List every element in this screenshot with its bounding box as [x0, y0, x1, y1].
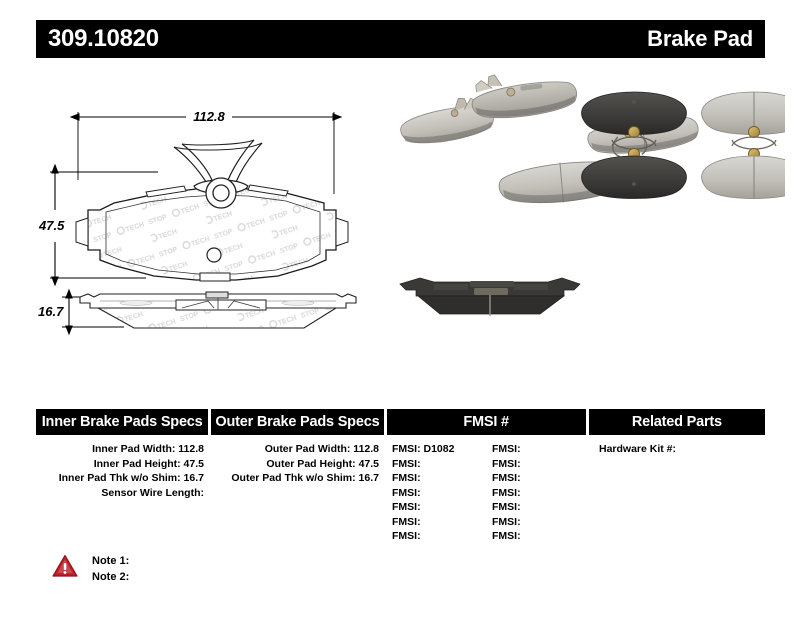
part-number: 309.10820: [48, 27, 159, 51]
spec-row: Outer Pad Height: 47.5: [211, 457, 383, 472]
related-parts-column: Hardware Kit #:: [589, 442, 765, 544]
note-line-1: Note 1:: [92, 553, 129, 569]
spec-row: Outer Pad Thk w/o Shim: 16.7: [211, 471, 383, 486]
fmsi-column: FMSI: D1082 FMSI: FMSI: FMSI: FMSI: FMSI…: [386, 442, 586, 544]
pads-grid-photo: [582, 92, 785, 199]
table-header-outer-specs: Outer Brake Pads Specs: [211, 409, 383, 435]
specifications-table: Inner Brake Pads Specs Outer Brake Pads …: [36, 409, 765, 544]
note-line-2: Note 2:: [92, 569, 129, 585]
notes-section: Note 1: Note 2:: [52, 553, 129, 585]
height-dimension-label: 47.5: [38, 218, 65, 233]
fmsi-row: FMSI:: [386, 471, 486, 486]
table-header-fmsi: FMSI #: [387, 409, 586, 435]
fmsi-row: FMSI:: [486, 471, 586, 486]
fmsi-row: FMSI:: [386, 486, 486, 501]
fmsi-subcolumn-right: FMSI: FMSI: FMSI: FMSI: FMSI: FMSI: FMSI…: [486, 442, 586, 544]
fmsi-row: FMSI:: [486, 442, 586, 457]
fmsi-row: FMSI: D1082: [386, 442, 486, 457]
pad-edge-photo: [400, 278, 580, 316]
fmsi-row: FMSI:: [486, 486, 586, 501]
spec-row: Outer Pad Width: 112.8: [211, 442, 383, 457]
fmsi-subcolumn-left: FMSI: D1082 FMSI: FMSI: FMSI: FMSI: FMSI…: [386, 442, 486, 544]
fmsi-row: FMSI:: [386, 529, 486, 544]
spec-row: Sensor Wire Length:: [36, 486, 208, 501]
note-lines: Note 1: Note 2:: [92, 553, 129, 585]
product-photo-panel: [390, 70, 785, 370]
table-header-related-parts: Related Parts: [589, 409, 765, 435]
outer-specs-column: Outer Pad Width: 112.8 Outer Pad Height:…: [211, 442, 383, 544]
cad-drawing-svg: STOP TECH STOP TECH: [36, 70, 396, 370]
fmsi-row: FMSI:: [486, 515, 586, 530]
spec-row: Inner Pad Thk w/o Shim: 16.7: [36, 471, 208, 486]
fmsi-row: FMSI:: [386, 457, 486, 472]
inner-specs-column: Inner Pad Width: 112.8 Inner Pad Height:…: [36, 442, 208, 544]
brake-pad-side-view: [80, 292, 356, 328]
width-dimension-label: 112.8: [193, 109, 225, 124]
fmsi-row: FMSI:: [386, 515, 486, 530]
table-header-row: Inner Brake Pads Specs Outer Brake Pads …: [36, 409, 765, 435]
fmsi-row: FMSI:: [386, 500, 486, 515]
table-header-inner-specs: Inner Brake Pads Specs: [36, 409, 208, 435]
product-illustration-area: STOP TECH STOP TECH: [0, 62, 800, 392]
warning-triangle-icon: [52, 554, 78, 578]
fmsi-row: FMSI:: [486, 529, 586, 544]
fmsi-row: FMSI:: [486, 457, 586, 472]
spec-row: Inner Pad Height: 47.5: [36, 457, 208, 472]
spec-row: Inner Pad Width: 112.8: [36, 442, 208, 457]
related-parts-row: Hardware Kit #:: [589, 442, 765, 457]
page-header-bar: 309.10820 Brake Pad: [36, 20, 765, 58]
thickness-dimension-label: 16.7: [38, 304, 64, 319]
page-title: Brake Pad: [647, 28, 753, 50]
cad-drawing-panel: STOP TECH STOP TECH: [36, 70, 396, 370]
table-body: Inner Pad Width: 112.8 Inner Pad Height:…: [36, 442, 765, 544]
fmsi-row: FMSI:: [486, 500, 586, 515]
product-photo-svg: [390, 70, 785, 370]
